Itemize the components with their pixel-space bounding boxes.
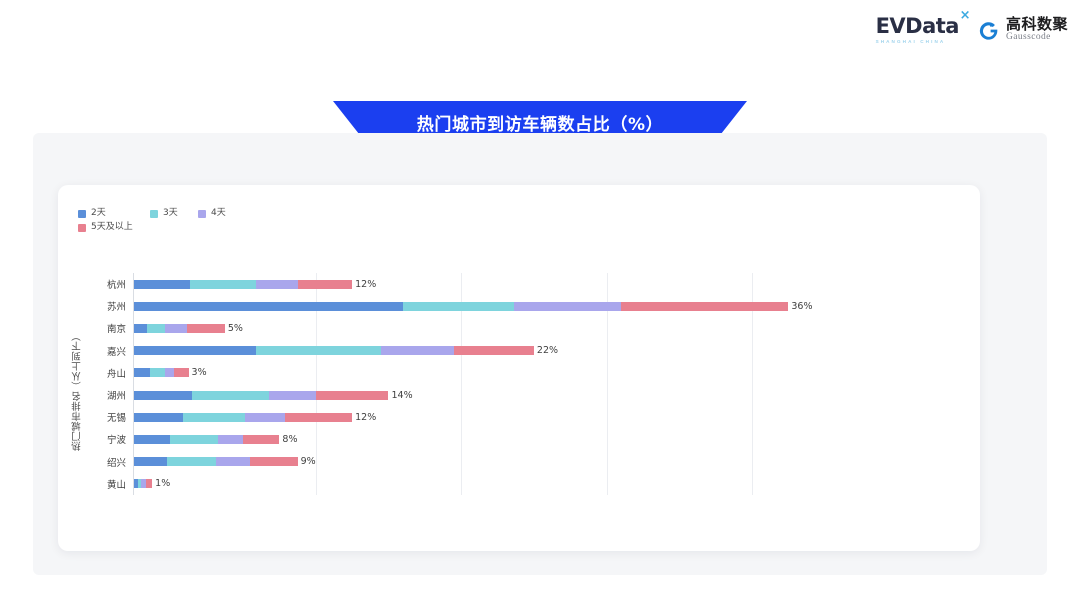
bar-segment-3天[interactable] [190,280,255,289]
category-label-苏州: 苏州 [58,299,126,313]
bar-row: 舟山3% [58,362,980,384]
category-label-湖州: 湖州 [58,388,126,402]
evdata-wordmark: EVData × [876,16,959,37]
bar-segment-5天及以上[interactable] [285,413,352,422]
stacked-bar[interactable] [134,324,225,333]
bar-row: 嘉兴22% [58,340,980,362]
gausscode-logo: 高科数聚 Gausscode [977,17,1068,43]
bar-segment-4天[interactable] [165,324,187,333]
legend-item-2days[interactable]: 2天 [78,207,150,221]
category-label-舟山: 舟山 [58,366,126,380]
bar-segment-3天[interactable] [403,302,514,311]
bar-segment-2天[interactable] [134,413,183,422]
bar-row: 杭州12% [58,273,980,295]
category-label-宁波: 宁波 [58,432,126,446]
evdata-logo: EVData × SHANGHAI CHINA [876,16,959,45]
category-label-杭州: 杭州 [58,277,126,291]
bar-segment-3天[interactable] [167,457,216,466]
bar-segment-3天[interactable] [192,391,268,400]
bar-segment-2天[interactable] [134,368,150,377]
bar-segment-5天及以上[interactable] [174,368,189,377]
legend-label-2days: 2天 [91,207,106,221]
bar-row: 南京5% [58,317,980,339]
stacked-bar[interactable] [134,368,189,377]
bar-segment-5天及以上[interactable] [454,346,534,355]
bar-segment-4天[interactable] [269,391,316,400]
bar-segment-4天[interactable] [165,368,174,377]
bar-row: 无锡12% [58,406,980,428]
bar-segment-5天及以上[interactable] [250,457,297,466]
bar-segment-2天[interactable] [134,391,192,400]
stacked-bar[interactable] [134,457,298,466]
bar-segment-5天及以上[interactable] [316,391,389,400]
bar-segment-4天[interactable] [245,413,285,422]
bar-row: 黄山1% [58,473,980,495]
bar-segment-3天[interactable] [183,413,245,422]
stacked-bar[interactable] [134,280,352,289]
bar-row: 湖州14% [58,384,980,406]
bar-total-label: 12% [355,279,376,290]
category-label-嘉兴: 嘉兴 [58,344,126,358]
gausscode-en-name: Gausscode [1006,33,1068,43]
legend-label-3days: 3天 [163,207,178,221]
chart-card: 2天 3天 4天 5天及以上 热门城市排名（从上到下） 杭州12%苏州36%南京… [58,185,980,551]
bar-segment-2天[interactable] [134,457,167,466]
legend-label-5days-plus: 5天及以上 [91,221,133,235]
category-label-南京: 南京 [58,321,126,335]
legend-swatch-2days [78,210,86,218]
bar-segment-4天[interactable] [381,346,454,355]
chart-legend: 2天 3天 4天 5天及以上 [78,207,498,235]
legend-row-2: 5天及以上 [78,221,498,235]
gausscode-g-icon [977,19,1000,42]
bar-segment-3天[interactable] [147,324,165,333]
bar-total-label: 9% [301,456,316,467]
stacked-bar[interactable] [134,413,352,422]
legend-item-3days[interactable]: 3天 [150,207,198,221]
gausscode-text: 高科数聚 Gausscode [1006,17,1068,43]
legend-label-4days: 4天 [211,207,226,221]
bar-segment-3天[interactable] [170,435,217,444]
bar-total-label: 8% [282,434,297,445]
stacked-bar[interactable] [134,391,388,400]
evdata-superscript-icon: × [960,9,970,22]
bar-row: 绍兴9% [58,451,980,473]
category-label-绍兴: 绍兴 [58,455,126,469]
bar-segment-2天[interactable] [134,280,190,289]
stacked-bar[interactable] [134,435,279,444]
bar-total-label: 14% [391,390,412,401]
legend-swatch-4days [198,210,206,218]
bar-total-label: 12% [355,412,376,423]
logo-bar: EVData × SHANGHAI CHINA 高科数聚 Gausscode [876,10,1068,50]
bar-segment-2天[interactable] [134,302,403,311]
bar-total-label: 1% [155,478,170,489]
bar-segment-5天及以上[interactable] [187,324,225,333]
bar-total-label: 5% [228,323,243,334]
stacked-bar[interactable] [134,479,152,488]
evdata-subtitle: SHANGHAI CHINA [876,40,946,45]
stacked-bar[interactable] [134,346,534,355]
legend-row-1: 2天 3天 4天 [78,207,498,221]
gausscode-cn-name: 高科数聚 [1006,17,1068,33]
bar-segment-4天[interactable] [514,302,621,311]
plot-area: 热门城市排名（从上到下） 杭州12%苏州36%南京5%嘉兴22%舟山3%湖州14… [58,273,980,513]
bar-segment-2天[interactable] [134,346,256,355]
legend-item-4days[interactable]: 4天 [198,207,246,221]
legend-swatch-5days-plus [78,224,86,232]
category-label-黄山: 黄山 [58,477,126,491]
bar-total-label: 36% [791,301,812,312]
legend-item-5days-plus[interactable]: 5天及以上 [78,221,150,235]
bar-segment-4天[interactable] [218,435,243,444]
bar-total-label: 22% [537,345,558,356]
bar-segment-3天[interactable] [150,368,165,377]
bar-row: 苏州36% [58,295,980,317]
bar-segment-5天及以上[interactable] [146,479,152,488]
bar-segment-4天[interactable] [216,457,251,466]
stacked-bar[interactable] [134,302,788,311]
bar-segment-5天及以上[interactable] [621,302,788,311]
bar-segment-5天及以上[interactable] [243,435,279,444]
bar-total-label: 3% [192,367,207,378]
bar-rows: 杭州12%苏州36%南京5%嘉兴22%舟山3%湖州14%无锡12%宁波8%绍兴9… [58,273,980,495]
bar-row: 宁波8% [58,428,980,450]
bar-segment-5天及以上[interactable] [298,280,353,289]
bar-segment-2天[interactable] [134,435,170,444]
bar-segment-2天[interactable] [134,324,147,333]
category-label-无锡: 无锡 [58,410,126,424]
evdata-wordmark-text: EVData [876,14,959,38]
legend-swatch-3days [150,210,158,218]
bar-segment-3天[interactable] [256,346,381,355]
bar-segment-4天[interactable] [256,280,298,289]
